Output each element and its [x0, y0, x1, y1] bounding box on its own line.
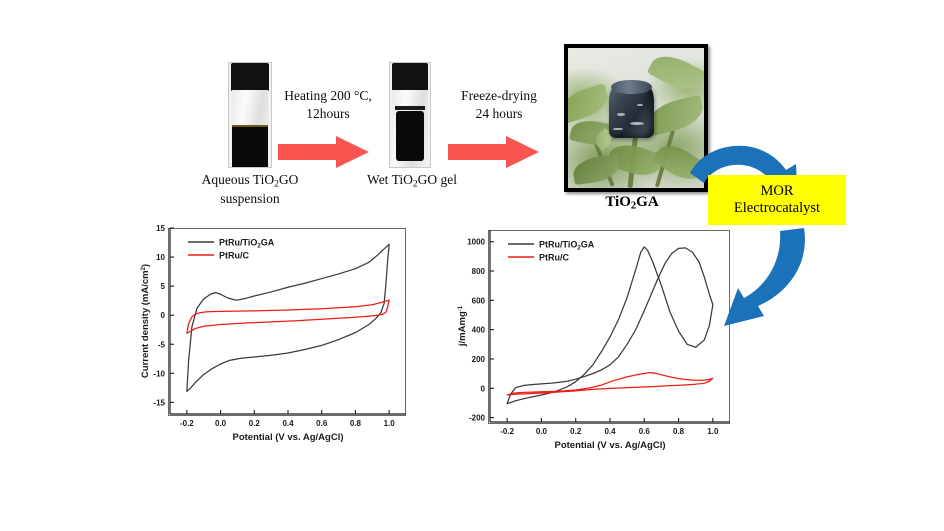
aqueous-label-line2: suspension	[220, 191, 279, 206]
mor-electrocatalyst-badge: MOR Electrocatalyst	[708, 175, 846, 225]
series-curve-1	[187, 300, 389, 333]
badge-line2: Electrocatalyst	[734, 200, 820, 216]
series-curve-0	[507, 247, 713, 404]
y-tick-label: -5	[158, 340, 166, 349]
x-tick-label: 0.6	[639, 427, 651, 436]
y-tick-label: 800	[472, 267, 486, 276]
aerogel-speck-3	[637, 104, 643, 106]
vial-cap-icon	[231, 63, 270, 91]
x-tick-label: -0.2	[500, 427, 514, 436]
label-wet-gel: Wet TiO2GO gel	[352, 172, 472, 191]
y-axis-title: j/mAmg-1	[457, 305, 468, 347]
vial-aqueous-suspension	[228, 62, 272, 168]
y-tick-label: 0	[481, 384, 486, 393]
y-tick-label: 0	[161, 311, 166, 320]
aerogel-speck-1	[617, 113, 625, 116]
x-tick-label: 0.2	[570, 427, 582, 436]
y-tick-label: -15	[153, 398, 165, 407]
red-arrow-2-icon	[448, 135, 540, 169]
label-aqueous-suspension: Aqueous TiO2GO suspension	[176, 172, 324, 208]
y-tick-label: -200	[469, 414, 486, 423]
aqueous-label-suffix: GO	[279, 172, 299, 187]
x-tick-label: 1.0	[707, 427, 719, 436]
y-tick-label: 600	[472, 296, 486, 305]
tio2ga-aerogel	[609, 82, 654, 138]
product-label-suffix: GA	[636, 194, 659, 210]
step-text-freeze-drying: Freeze-drying 24 hours	[444, 87, 554, 122]
y-tick-label: 5	[161, 282, 166, 291]
red-arrow-1-icon	[278, 135, 370, 169]
x-tick-label: 0.2	[249, 419, 261, 428]
legend-label-0: PtRu/TiO2GA	[219, 237, 275, 249]
product-photo	[568, 48, 704, 188]
x-axis-title: Potential (V vs. Ag/AgCl)	[232, 432, 343, 443]
y-tick-label: 10	[156, 253, 165, 262]
step-text-heating: Heating 200 °C, 12hours	[272, 87, 384, 122]
vial-liquid	[232, 127, 269, 167]
aerogel-top-face	[611, 80, 652, 95]
legend-label-1: PtRu/C	[219, 250, 249, 260]
product-label-tio2ga: TiO2GA	[564, 194, 700, 212]
gel-block	[396, 111, 425, 161]
legend-label-1: PtRu/C	[539, 252, 569, 262]
x-tick-label: -0.2	[180, 419, 194, 428]
wetgel-label-prefix: Wet TiO	[367, 172, 413, 187]
x-tick-label: 0.4	[282, 419, 294, 428]
graphical-abstract: Aqueous TiO2GO suspension Heating 200 °C…	[0, 0, 944, 531]
y-tick-label: 200	[472, 355, 486, 364]
vial-wet-gel	[389, 62, 431, 168]
heating-line2: 12hours	[306, 106, 350, 121]
x-axis-title: Potential (V vs. Ag/AgCl)	[554, 440, 665, 451]
y-axis-title: Current density (mA/cm2)	[140, 264, 151, 378]
y-tick-label: 15	[156, 224, 165, 233]
wetgel-label-suffix: GO gel	[418, 172, 457, 187]
blue-curved-arrow-icon	[686, 136, 816, 346]
legend-label-0: PtRu/TiO2GA	[539, 239, 595, 251]
badge-line1: MOR	[760, 183, 793, 199]
x-tick-label: 0.8	[673, 427, 685, 436]
aerogel-speck-4	[613, 128, 623, 131]
product-label-prefix: TiO	[605, 194, 631, 210]
heating-line1: Heating 200 °C,	[284, 88, 372, 103]
x-tick-label: 0.8	[350, 419, 362, 428]
x-tick-label: 0.0	[536, 427, 548, 436]
x-tick-label: 0.4	[604, 427, 616, 436]
freeze-line2: 24 hours	[476, 106, 523, 121]
chart-cv-left: -0.20.00.20.40.60.81.0-15-10-5051015PtRu…	[134, 220, 434, 465]
vial-cap-icon-2	[392, 63, 429, 91]
freeze-line1: Freeze-drying	[461, 88, 537, 103]
aerogel-speck-2	[630, 122, 643, 125]
gel-surface-line	[395, 106, 425, 110]
y-tick-label: 1000	[467, 238, 485, 247]
y-tick-label: 400	[472, 326, 486, 335]
series-curve-0	[187, 244, 389, 391]
x-tick-label: 0.0	[215, 419, 227, 428]
y-tick-label: -10	[153, 369, 165, 378]
x-tick-label: 0.6	[316, 419, 328, 428]
x-tick-label: 1.0	[384, 419, 396, 428]
aqueous-label-prefix: Aqueous TiO	[202, 172, 274, 187]
